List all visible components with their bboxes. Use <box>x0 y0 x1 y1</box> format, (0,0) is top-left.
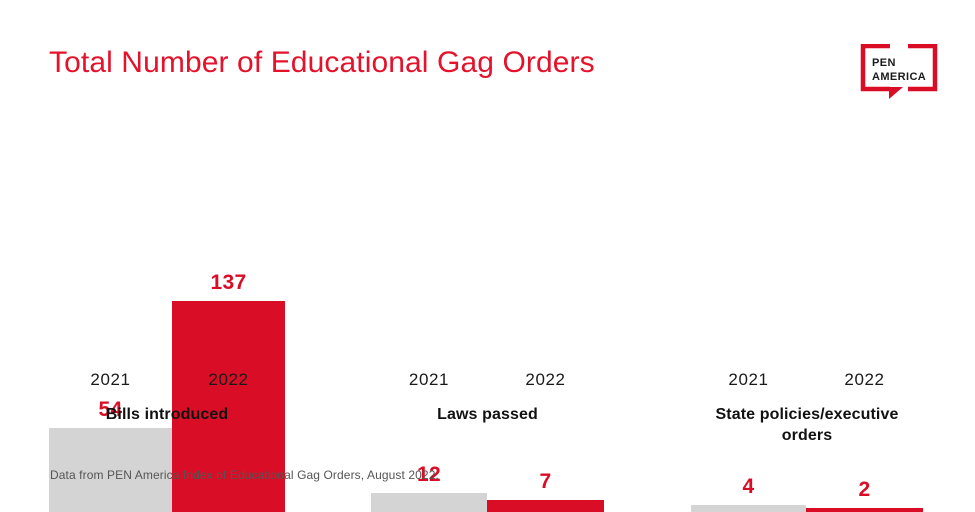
group-label-bills-introduced: Bills introduced <box>49 404 285 425</box>
bar-slot-2021: 12 <box>371 149 487 512</box>
group-label-state-policies-line1: State policies/executive <box>691 404 923 425</box>
bar-value-label: 2 <box>806 479 923 500</box>
bar-year-label-2021: 2021 <box>49 370 172 390</box>
bar-slot-2022: 7 <box>487 149 604 512</box>
bar-group-laws-passed: 12 2021 7 2022 Laws passed <box>371 0 604 512</box>
bar-2022-state-policies[interactable] <box>806 508 923 512</box>
bar-2022-laws-passed[interactable] <box>487 500 604 512</box>
bar-slot-2022: 137 <box>172 149 285 512</box>
chart-canvas: Total Number of Educational Gag Orders P… <box>0 0 975 512</box>
bar-year-label-2022: 2022 <box>172 370 285 390</box>
bar-year-label-2021: 2021 <box>371 370 487 390</box>
bar-value-label: 137 <box>172 272 285 293</box>
bar-chart-plot-area: 54 2021 137 2022 Bills introduced 12 202… <box>0 0 975 512</box>
bar-2021-laws-passed[interactable] <box>371 493 487 512</box>
bar-year-label-2022: 2022 <box>806 370 923 390</box>
bar-2021-state-policies[interactable] <box>691 505 806 512</box>
bar-value-label: 4 <box>691 476 806 497</box>
bar-year-label-2021: 2021 <box>691 370 806 390</box>
group-label-laws-passed: Laws passed <box>371 404 604 425</box>
bar-slot-2021: 54 <box>49 149 172 512</box>
bar-group-state-policies: 4 2021 2 2022 State policies/executive o… <box>691 0 923 512</box>
bar-slot-2021: 4 <box>691 149 806 512</box>
bar-year-label-2022: 2022 <box>487 370 604 390</box>
bar-value-label: 7 <box>487 471 604 492</box>
bar-slot-2022: 2 <box>806 149 923 512</box>
group-label-state-policies-line2: orders <box>691 425 923 446</box>
source-note: Data from PEN America Index of Education… <box>50 468 439 482</box>
bar-group-bills-introduced: 54 2021 137 2022 Bills introduced <box>49 0 285 512</box>
